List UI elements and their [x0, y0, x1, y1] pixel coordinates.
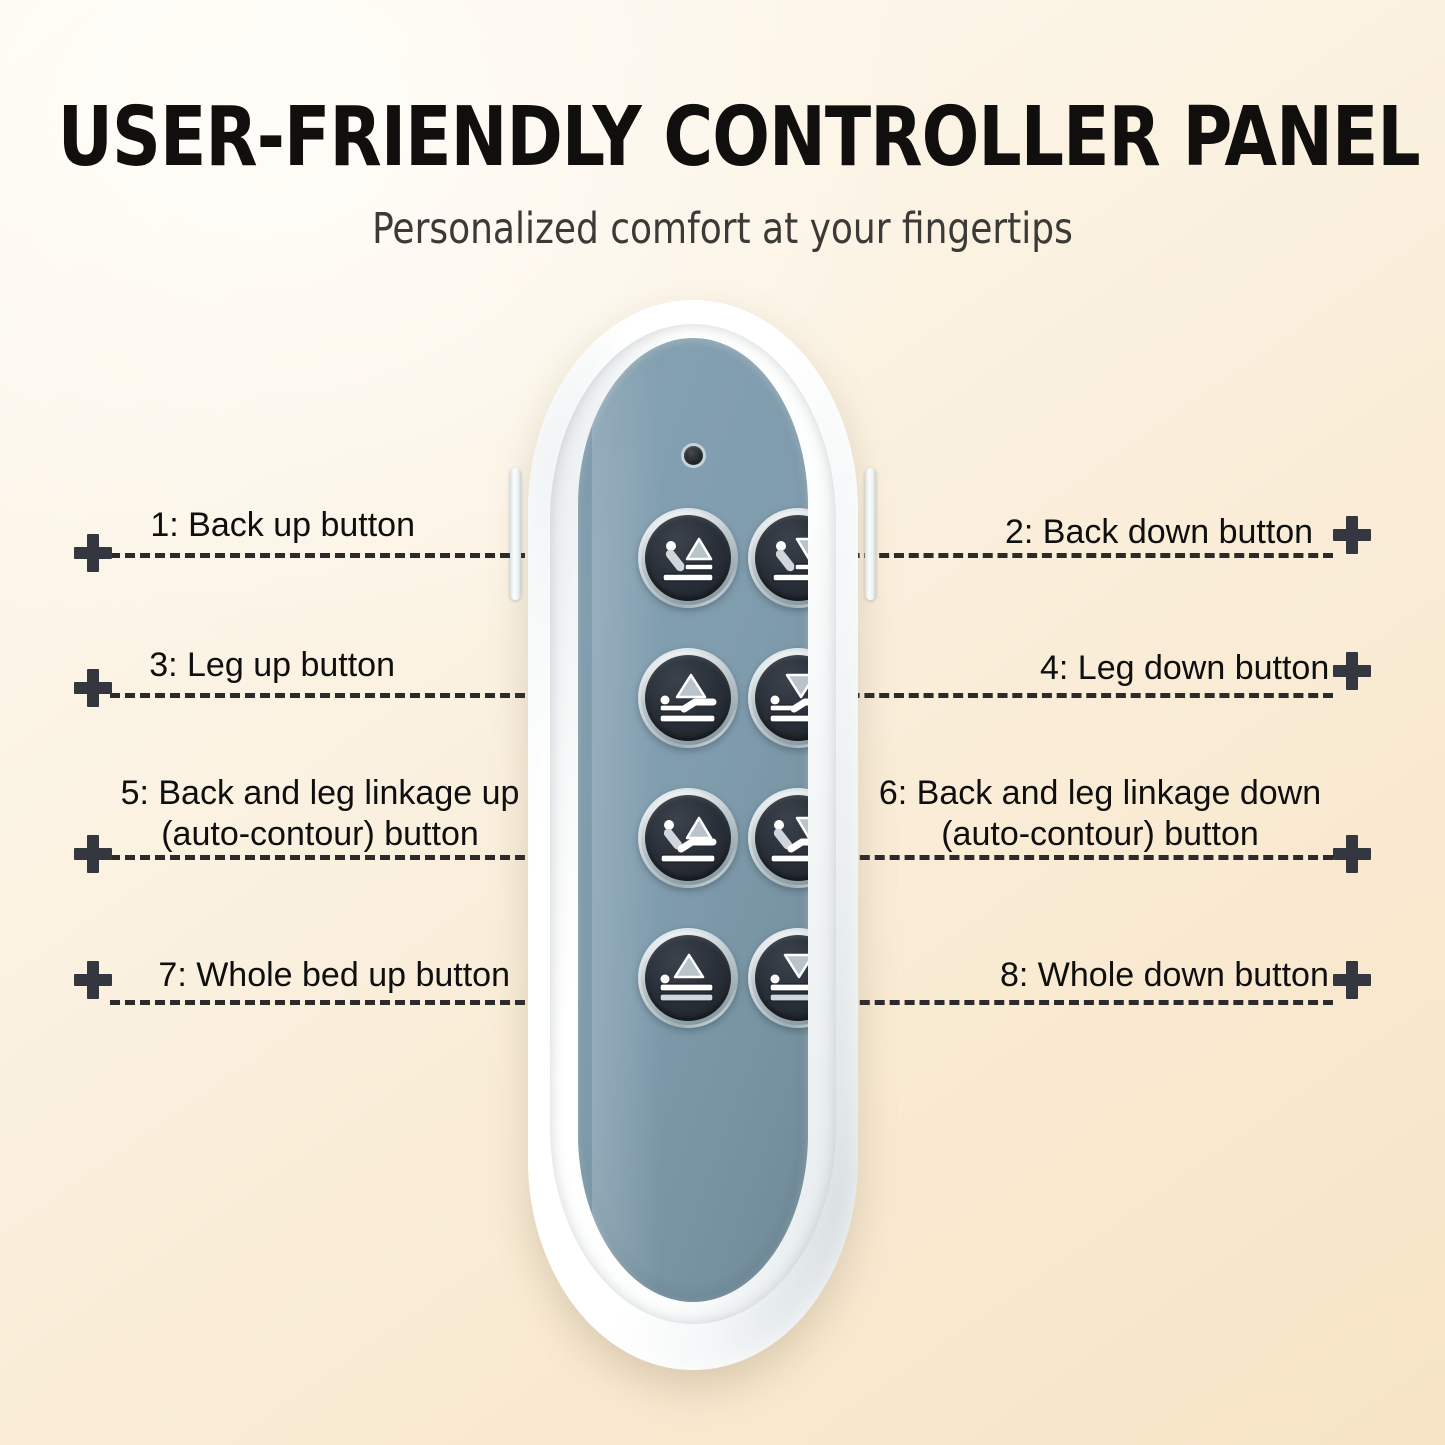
back-up-icon [645, 515, 731, 601]
callout-label-5-line1: 5: Back and leg linkage up [121, 774, 520, 812]
callout-label-1: 1: Back up button [0, 505, 415, 546]
leader-line-2 [820, 553, 1333, 558]
whole-bed-down-icon [755, 935, 808, 1021]
callout-label-2: 2: Back down button [1005, 512, 1335, 553]
faceplate [578, 338, 808, 1302]
leg-up-icon [645, 655, 731, 741]
side-rail-right [865, 468, 876, 600]
leader-line-1 [110, 553, 570, 558]
callout-label-6: 6: Back and leg linkage down (auto-conto… [875, 773, 1325, 856]
linkage-down-button[interactable] [748, 788, 808, 888]
callout-label-6-line2: (auto-contour) button [941, 815, 1259, 853]
callout-label-7: 7: Whole bed up button [0, 955, 510, 996]
remote-control [528, 300, 858, 1370]
leg-up-button[interactable] [638, 648, 738, 748]
back-down-button[interactable] [748, 508, 808, 608]
linkage-up-button[interactable] [638, 788, 738, 888]
infographic-canvas: USER-FRIENDLY CONTROLLER PANEL Personali… [0, 0, 1445, 1445]
leg-down-icon [755, 655, 808, 741]
callout-label-8: 8: Whole down button [1000, 955, 1335, 996]
callout-label-6-line1: 6: Back and leg linkage down [879, 774, 1321, 812]
leader-line-3 [110, 693, 570, 698]
whole-bed-up-icon [645, 935, 731, 1021]
leader-line-4 [820, 693, 1333, 698]
header: USER-FRIENDLY CONTROLLER PANEL Personali… [0, 0, 1445, 254]
back-up-button[interactable] [638, 508, 738, 608]
callout-label-5: 5: Back and leg linkage up (auto-contour… [100, 773, 540, 856]
callout-label-3: 3: Leg up button [0, 645, 395, 686]
page-title: USER-FRIENDLY CONTROLLER PANEL [58, 0, 1387, 178]
led-indicator [684, 446, 703, 465]
linkage-down-icon [755, 795, 808, 881]
plus-marker-6 [1333, 835, 1371, 873]
leader-line-8 [800, 1000, 1333, 1005]
callout-label-5-line2: (auto-contour) button [161, 815, 479, 853]
side-rail-left [510, 468, 521, 600]
leg-down-button[interactable] [748, 648, 808, 748]
whole-bed-down-button[interactable] [748, 928, 808, 1028]
plus-marker-2 [1333, 516, 1371, 554]
plus-marker-8 [1333, 961, 1371, 999]
callout-label-4: 4: Leg down button [1040, 648, 1340, 689]
back-down-icon [755, 515, 808, 601]
whole-bed-up-button[interactable] [638, 928, 738, 1028]
page-subtitle: Personalized comfort at your fingertips [51, 178, 1395, 254]
linkage-up-icon [645, 795, 731, 881]
button-grid [638, 508, 808, 1028]
